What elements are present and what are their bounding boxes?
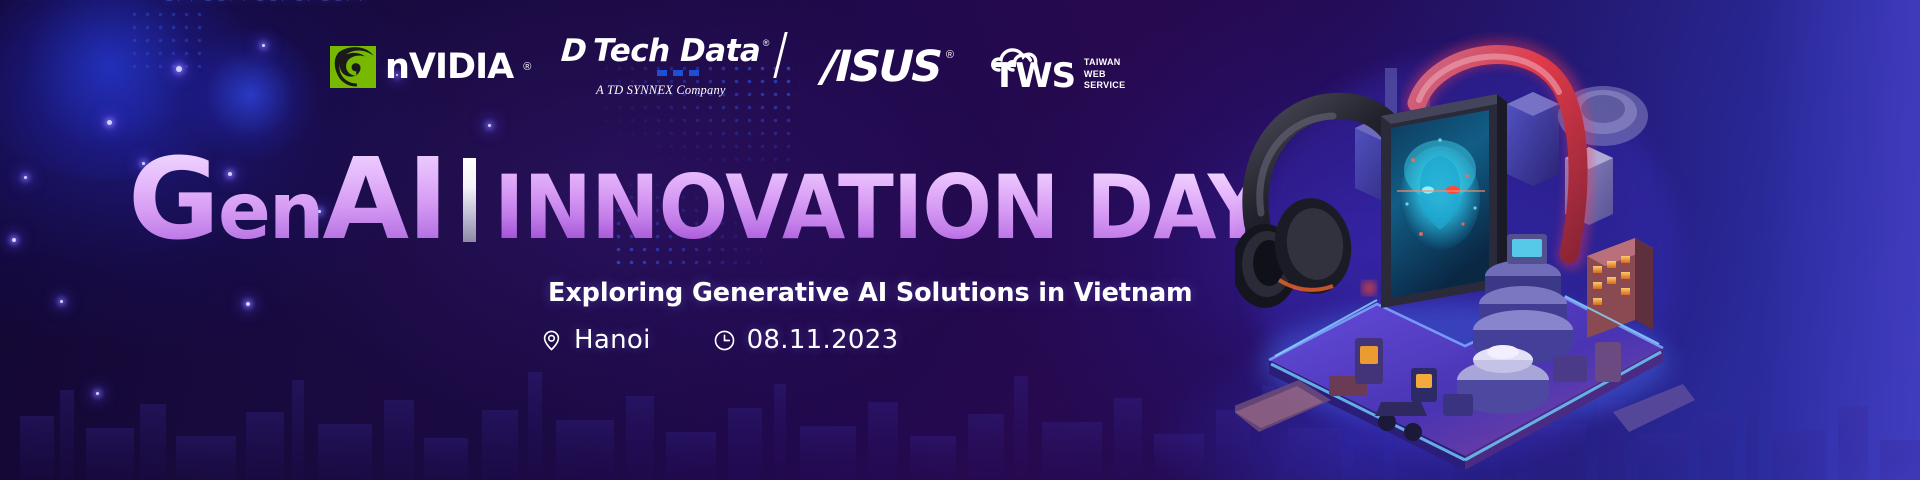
tech-data-tagline: A TD SYNNEX Company <box>596 83 726 98</box>
headline-group: GenAI INNOVATION DAY <box>128 152 1324 248</box>
headline-divider-bar <box>463 158 476 242</box>
logo-tech-data[interactable]: D Tech Data ® A TD SYNNEX Company <box>561 36 760 98</box>
tech-data-d-icon: D <box>560 36 588 67</box>
tech-data-wordmark: Tech Data <box>593 36 760 67</box>
partner-logos-row: nVIDIA ® D Tech Data ® A TD SYNNEX Compa… <box>330 38 1125 96</box>
tws-sub-line-3: SERVICE <box>1084 80 1125 90</box>
clock-icon <box>713 329 736 352</box>
sparkle-dot <box>12 238 16 242</box>
tech-data-registered-mark: ® <box>763 38 770 48</box>
event-subtitle: Exploring Generative AI Solutions in Vie… <box>548 278 1193 308</box>
sparkle-dot <box>107 120 112 125</box>
meta-item-location: Hanoi <box>540 325 651 355</box>
sparkle-dot <box>488 124 491 127</box>
tws-sub-line-2: WEB <box>1084 69 1106 79</box>
tws-subtitle-block: TAIWAN WEB SERVICE <box>1084 57 1125 94</box>
headline-gen-en: en <box>218 167 322 257</box>
logo-tws[interactable]: TWS TAIWAN WEB SERVICE <box>991 40 1125 94</box>
headline-genai: GenAI <box>128 152 447 248</box>
tws-wordmark: TWS <box>993 59 1075 93</box>
genai-innovation-day-banner: 0 0 1 0 0 1 01 0 1 0 0 1 0 1 0 0 1 1 0 0… <box>0 0 1920 480</box>
location-pin-icon <box>540 329 563 352</box>
tws-cloud-icon: TWS <box>991 40 1079 94</box>
meta-item-date: 08.11.2023 <box>713 325 899 355</box>
asus-wordmark: /ISUS <box>822 46 942 89</box>
nvidia-registered-mark: ® <box>523 61 531 73</box>
ai-city-illustration <box>1235 8 1695 478</box>
event-meta-row: Hanoi 08.11.2023 <box>540 325 898 355</box>
headline-gen-g: G <box>128 135 218 265</box>
sparkle-dot <box>262 44 265 47</box>
asus-registered-mark: ® <box>946 49 954 61</box>
headline-innovation-day: INNOVATION DAY <box>494 168 1266 247</box>
tws-sub-line-1: TAIWAN <box>1084 57 1121 67</box>
tech-data-slash-accent <box>774 32 788 78</box>
tech-data-mark-row: D Tech Data ® <box>561 36 760 67</box>
nvidia-eye-icon <box>330 46 376 88</box>
binary-column-4: 1 1 0 0 1 0 1 0 0 1 1 0 0 1 1 0 <box>162 0 370 2</box>
sparkle-dot <box>176 66 182 72</box>
tech-data-blue-squares <box>561 70 726 77</box>
sparkle-dot <box>60 300 63 303</box>
logo-asus[interactable]: /ISUS ® <box>822 46 941 89</box>
meta-date-value: 08.11.2023 <box>747 325 899 355</box>
sparkle-dot <box>24 176 27 179</box>
meta-location-value: Hanoi <box>574 325 651 355</box>
logo-nvidia[interactable]: nVIDIA ® <box>330 46 531 88</box>
dot-grid-corner <box>128 8 208 68</box>
headline-gen-ai: AI <box>322 135 446 265</box>
nvidia-wordmark: nVIDIA <box>385 50 513 85</box>
sparkle-dot <box>246 302 250 306</box>
